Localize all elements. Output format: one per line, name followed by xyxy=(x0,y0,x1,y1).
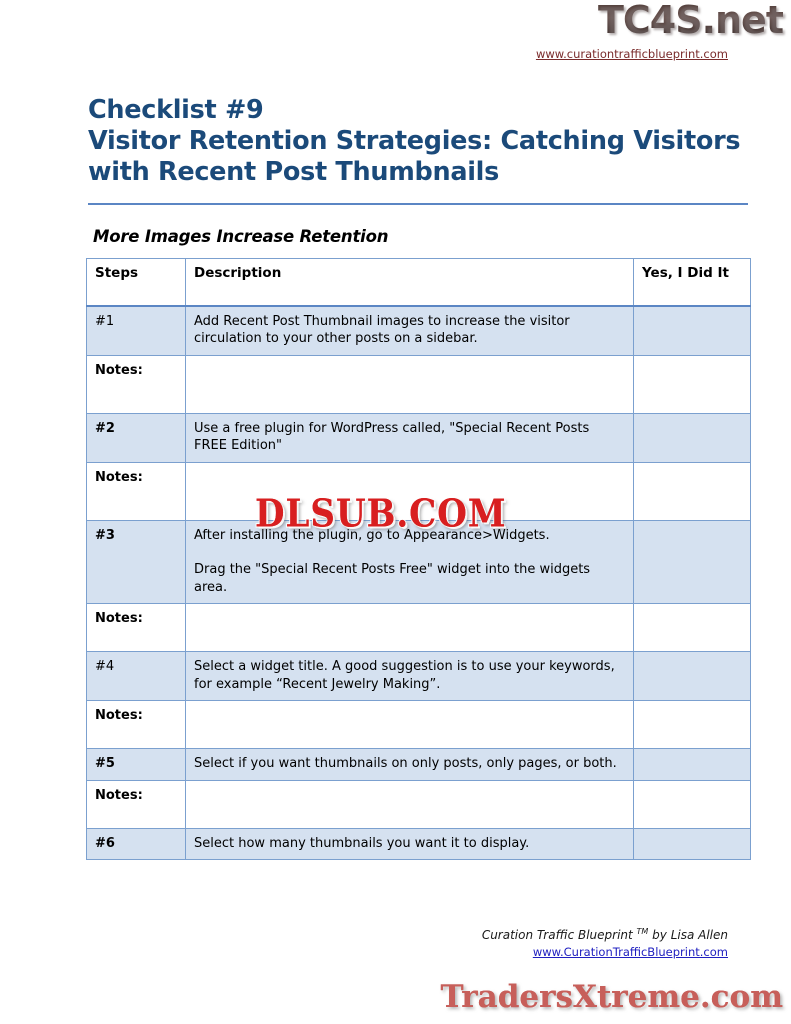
checklist-table: Steps Description Yes, I Did It #1 Add R… xyxy=(86,258,751,860)
column-header-yes-i-did-it: Yes, I Did It xyxy=(634,259,751,306)
header-url-link[interactable]: www.curationtrafficblueprint.com xyxy=(536,47,728,61)
notes-checkbox-area[interactable] xyxy=(634,604,751,652)
notes-row: Notes: xyxy=(87,462,751,520)
notes-row: Notes: xyxy=(87,780,751,828)
notes-checkbox-area[interactable] xyxy=(634,780,751,828)
notes-row: Notes: xyxy=(87,604,751,652)
table-row: #6 Select how many thumbnails you want i… xyxy=(87,828,751,860)
section-subtitle: More Images Increase Retention xyxy=(93,227,388,246)
notes-checkbox-area[interactable] xyxy=(634,701,751,749)
notes-label: Notes: xyxy=(87,462,186,520)
title-line-1: Checklist #9 xyxy=(88,95,748,126)
cell-description: Add Recent Post Thumbnail images to incr… xyxy=(186,306,634,356)
cell-checkbox-area[interactable] xyxy=(634,520,751,604)
table-header-row: Steps Description Yes, I Did It xyxy=(87,259,751,306)
table-row: #4 Select a widget title. A good suggest… xyxy=(87,652,751,701)
notes-label: Notes: xyxy=(87,701,186,749)
notes-label: Notes: xyxy=(87,604,186,652)
cell-checkbox-area[interactable] xyxy=(634,413,751,462)
description-text: Select how many thumbnails you want it t… xyxy=(194,835,625,853)
notes-input-area[interactable] xyxy=(186,355,634,413)
table-row: #1 Add Recent Post Thumbnail images to i… xyxy=(87,306,751,356)
table-row: #2 Use a free plugin for WordPress calle… xyxy=(87,413,751,462)
description-text: Select if you want thumbnails on only po… xyxy=(194,755,625,773)
cell-description: After installing the plugin, go to Appea… xyxy=(186,520,634,604)
notes-checkbox-area[interactable] xyxy=(634,355,751,413)
cell-checkbox-area[interactable] xyxy=(634,652,751,701)
title-line-3: with Recent Post Thumbnails xyxy=(88,157,748,188)
document-page: TC4S.net www.curationtrafficblueprint.co… xyxy=(0,0,791,1024)
notes-input-area[interactable] xyxy=(186,462,634,520)
notes-checkbox-area[interactable] xyxy=(634,462,751,520)
column-header-steps: Steps xyxy=(87,259,186,306)
cell-checkbox-area[interactable] xyxy=(634,306,751,356)
notes-label: Notes: xyxy=(87,355,186,413)
description-text: After installing the plugin, go to Appea… xyxy=(194,527,625,545)
footer-url-link[interactable]: www.CurationTrafficBlueprint.com xyxy=(0,945,728,959)
description-spacer xyxy=(194,544,625,561)
description-text-secondary: Drag the "Special Recent Posts Free" wid… xyxy=(194,561,625,596)
column-header-description: Description xyxy=(186,259,634,306)
footer-credit: Curation Traffic Blueprint TM by Lisa Al… xyxy=(0,927,728,942)
cell-step-number: #3 xyxy=(87,520,186,604)
notes-row: Notes: xyxy=(87,701,751,749)
trademark-symbol: TM xyxy=(637,927,649,936)
cell-step-number: #1 xyxy=(87,306,186,356)
tradersxtreme-logo-fill: TradersXtreme.com xyxy=(440,979,783,1015)
description-text: Add Recent Post Thumbnail images to incr… xyxy=(194,313,625,348)
description-text: Select a widget title. A good suggestion… xyxy=(194,658,625,693)
notes-label: Notes: xyxy=(87,780,186,828)
title-line-2: Visitor Retention Strategies: Catching V… xyxy=(88,126,748,157)
table-row: #5 Select if you want thumbnails on only… xyxy=(87,749,751,781)
cell-step-number: #6 xyxy=(87,828,186,860)
cell-description: Select a widget title. A good suggestion… xyxy=(186,652,634,701)
cell-checkbox-area[interactable] xyxy=(634,749,751,781)
page-title: Checklist #9 Visitor Retention Strategie… xyxy=(88,95,748,188)
cell-description: Use a free plugin for WordPress called, … xyxy=(186,413,634,462)
footer-credit-suffix: by Lisa Allen xyxy=(648,928,728,942)
cell-step-number: #4 xyxy=(87,652,186,701)
cell-step-number: #2 xyxy=(87,413,186,462)
notes-input-area[interactable] xyxy=(186,780,634,828)
notes-row: Notes: xyxy=(87,355,751,413)
cell-description: Select how many thumbnails you want it t… xyxy=(186,828,634,860)
cell-description: Select if you want thumbnails on only po… xyxy=(186,749,634,781)
table-row: #3 After installing the plugin, go to Ap… xyxy=(87,520,751,604)
description-text: Use a free plugin for WordPress called, … xyxy=(194,420,625,455)
cell-step-number: #5 xyxy=(87,749,186,781)
cell-checkbox-area[interactable] xyxy=(634,828,751,860)
footer-credit-prefix: Curation Traffic Blueprint xyxy=(482,928,637,942)
tc4s-logo: TC4S.net xyxy=(598,0,783,42)
notes-input-area[interactable] xyxy=(186,701,634,749)
notes-input-area[interactable] xyxy=(186,604,634,652)
title-divider xyxy=(88,203,748,205)
